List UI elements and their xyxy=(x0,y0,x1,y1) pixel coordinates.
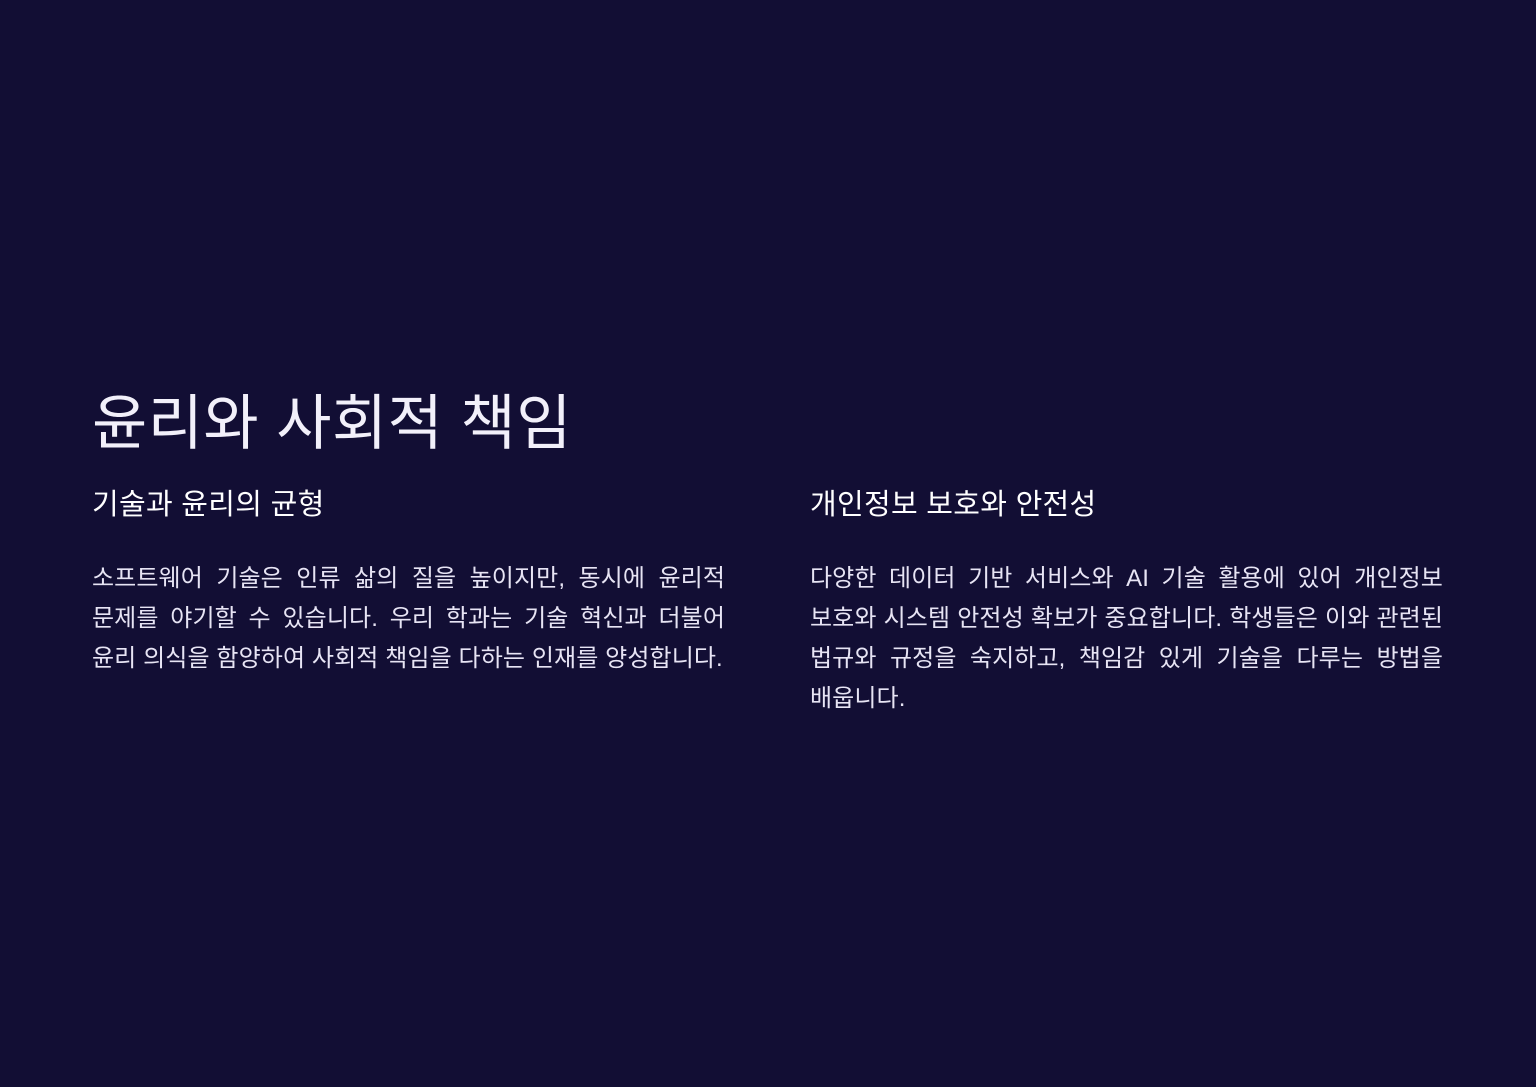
presentation-slide: 윤리와 사회적 책임 기술과 윤리의 균형 소프트웨어 기술은 인류 삶의 질을… xyxy=(0,0,1536,1087)
page-title: 윤리와 사회적 책임 xyxy=(92,390,572,457)
content-columns: 기술과 윤리의 균형 소프트웨어 기술은 인류 삶의 질을 높이지만, 동시에 … xyxy=(92,487,1444,719)
column-ethics-balance: 기술과 윤리의 균형 소프트웨어 기술은 인류 삶의 질을 높이지만, 동시에 … xyxy=(92,487,725,719)
column-body-privacy-safety: 다양한 데이터 기반 서비스와 AI 기술 활용에 있어 개인정보 보호와 시스… xyxy=(810,559,1443,719)
column-privacy-safety: 개인정보 보호와 안전성 다양한 데이터 기반 서비스와 AI 기술 활용에 있… xyxy=(810,487,1443,719)
column-body-ethics-balance: 소프트웨어 기술은 인류 삶의 질을 높이지만, 동시에 윤리적 문제를 야기할… xyxy=(92,559,725,679)
column-heading-privacy-safety: 개인정보 보호와 안전성 xyxy=(810,487,1443,525)
column-heading-ethics-balance: 기술과 윤리의 균형 xyxy=(92,487,725,525)
